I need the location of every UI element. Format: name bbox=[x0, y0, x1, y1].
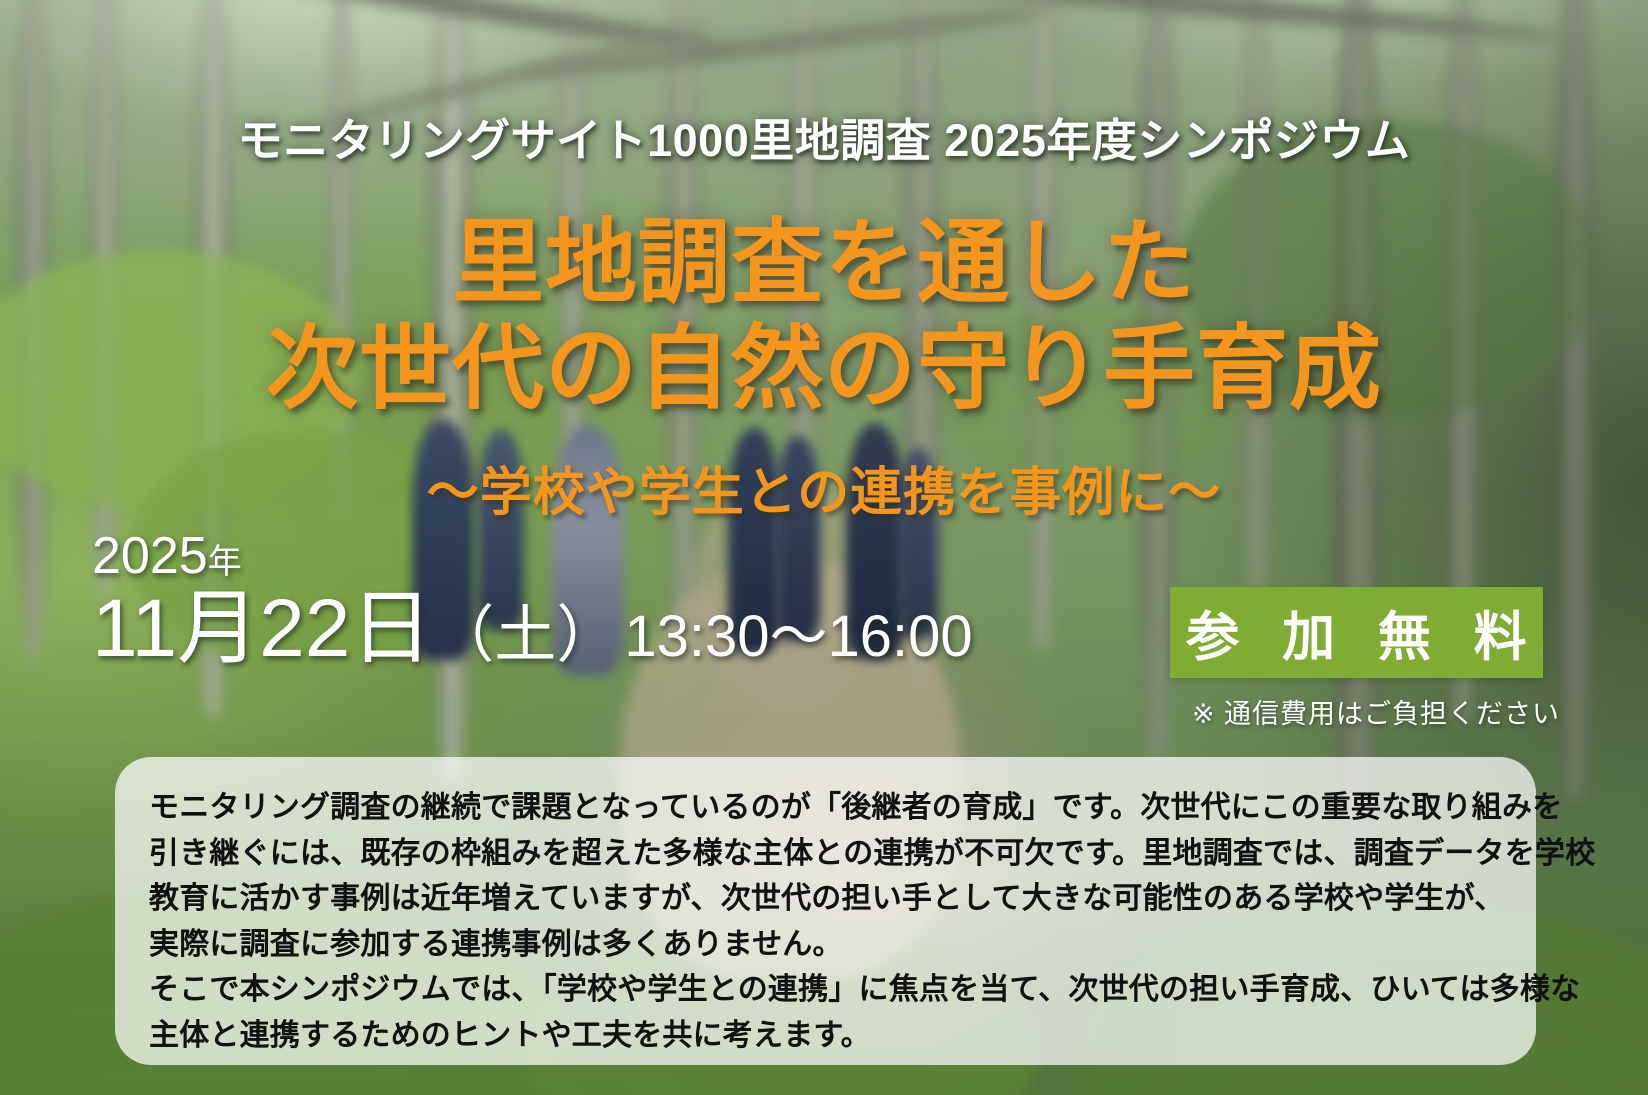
event-day-unit: 日 bbox=[350, 588, 432, 670]
event-day-number: 22 bbox=[259, 588, 350, 670]
event-series-kicker: モニタリングサイト1000里地調査 2025年度シンポジウム bbox=[0, 104, 1648, 169]
event-day-of-week: （土） bbox=[432, 605, 618, 667]
event-date-line: 11月22日（土）13:30〜16:00 bbox=[92, 588, 973, 670]
event-date-block: 2025年 11月22日（土）13:30〜16:00 bbox=[92, 530, 973, 670]
event-time-range: 13:30〜16:00 bbox=[624, 608, 972, 666]
headline-line-2: 次世代の自然の守り手育成 bbox=[0, 318, 1648, 421]
event-year: 2025年 bbox=[92, 530, 973, 582]
event-year-number: 2025 bbox=[92, 527, 208, 585]
headline-line-1: 里地調査を通した bbox=[0, 212, 1648, 315]
free-admission-badge: 参 加 無 料 bbox=[1170, 587, 1543, 678]
badge-note: ※ 通信費用はご負担ください bbox=[1192, 692, 1560, 731]
event-month-number: 11 bbox=[92, 588, 177, 670]
description-card: モニタリング調査の継続で課題となっているのが「後継者の育成」です。次世代にこの重… bbox=[115, 757, 1536, 1065]
description-line: 実際に調査に参加する連携事例は多くありません。 bbox=[149, 922, 1502, 968]
event-month-unit: 月 bbox=[177, 588, 259, 670]
description-line: 主体と連携するためのヒントや工夫を共に考えます。 bbox=[149, 1013, 1502, 1059]
description-line: モニタリング調査の継続で課題となっているのが「後継者の育成」です。次世代にこの重… bbox=[149, 785, 1502, 831]
description-line: 引き継ぐには、既存の枠組みを超えた多様な主体との連携が不可欠です。里地調査では、… bbox=[149, 831, 1502, 877]
description-line: 教育に活かす事例は近年増えていますが、次世代の担い手として大きな可能性のある学校… bbox=[149, 876, 1502, 922]
subheadline: 〜学校や学生との連携を事例に〜 bbox=[0, 450, 1648, 525]
description-line: そこで本シンポジウムでは、「学校や学生との連携」に焦点を当て、次世代の担い手育成… bbox=[149, 967, 1502, 1013]
poster-content: モニタリングサイト1000里地調査 2025年度シンポジウム 里地調査を通した … bbox=[0, 0, 1648, 1095]
poster-root: モニタリングサイト1000里地調査 2025年度シンポジウム 里地調査を通した … bbox=[0, 0, 1648, 1095]
event-year-unit: 年 bbox=[208, 543, 242, 581]
